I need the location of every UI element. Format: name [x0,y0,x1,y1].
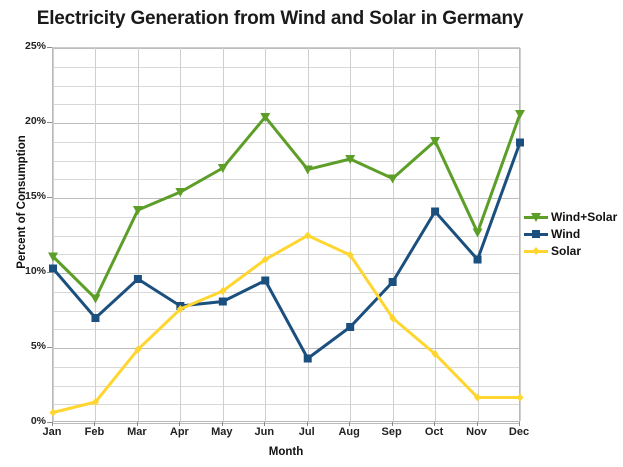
y-tick-label: 25% [0,40,46,52]
y-tick-mark [47,197,52,198]
x-tick-label: Jan [29,426,75,438]
legend-swatch-icon [524,227,548,241]
x-tick-label: Nov [454,426,500,438]
x-tick-label: Feb [71,426,117,438]
x-tick-mark [434,422,435,426]
x-tick-label: Sep [369,426,415,438]
legend-swatch-icon [524,244,548,258]
x-tick-mark [392,422,393,426]
x-tick-mark [477,422,478,426]
x-tick-mark [349,422,350,426]
y-tick-mark [47,47,52,48]
x-tick-label: Jun [241,426,287,438]
x-tick-label: Mar [114,426,160,438]
legend-label: Solar [551,244,581,258]
y-tick-mark [47,347,52,348]
x-tick-label: Dec [496,426,542,438]
chart-container: Electricity Generation from Wind and Sol… [0,0,623,467]
x-tick-mark [137,422,138,426]
y-tick-label: 20% [0,115,46,127]
legend-label: Wind+Solar [551,210,617,224]
x-axis-title: Month [52,446,520,458]
x-tick-mark [519,422,520,426]
x-tick-label: Aug [326,426,372,438]
y-tick-mark [47,272,52,273]
chart-legend: Wind+SolarWindSolar [524,209,623,260]
legend-swatch-icon [524,210,548,224]
x-tick-label: May [199,426,245,438]
x-tick-mark [222,422,223,426]
x-tick-mark [52,422,53,426]
x-tick-mark [307,422,308,426]
legend-item-wind-solar[interactable]: Wind+Solar [524,209,623,225]
x-tick-mark [264,422,265,426]
x-tick-mark [179,422,180,426]
x-tick-label: Oct [411,426,457,438]
y-tick-label: 15% [0,190,46,202]
legend-item-wind[interactable]: Wind [524,226,623,242]
legend-label: Wind [551,227,580,241]
x-tick-label: Jul [284,426,330,438]
y-tick-label: 10% [0,265,46,277]
x-tick-mark [94,422,95,426]
y-tick-mark [47,122,52,123]
x-tick-label: Apr [156,426,202,438]
y-tick-label: 5% [0,340,46,352]
legend-item-solar[interactable]: Solar [524,243,623,259]
